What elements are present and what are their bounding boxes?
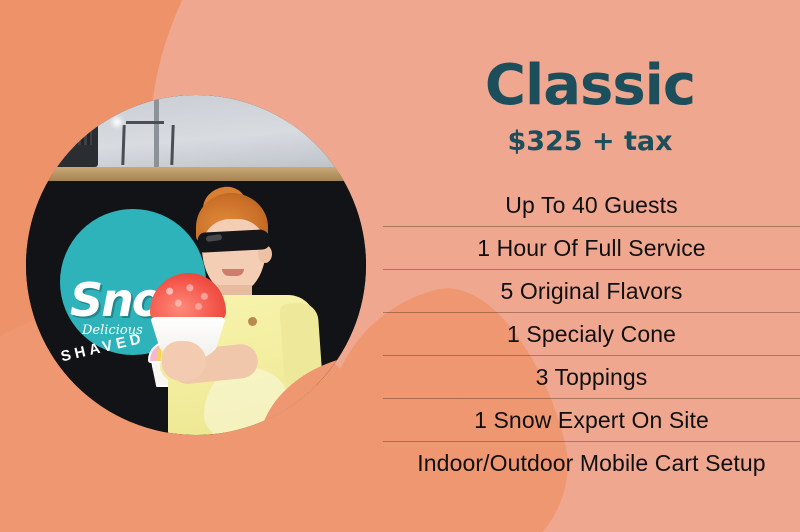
list-item: 1 Snow Expert On Site	[383, 398, 800, 441]
photo-equipment-grill	[48, 111, 92, 145]
plan-price: $325 + tax	[380, 128, 800, 155]
photo-shirt-button	[248, 317, 257, 326]
list-item: 5 Original Flavors	[383, 269, 800, 312]
pricing-card: Sno'a Delicious SHAVED Classic $325 + ta…	[0, 0, 800, 532]
feature-list: Up To 40 Guests 1 Hour Of Full Service 5…	[383, 184, 800, 484]
list-item: 1 Hour Of Full Service	[383, 226, 800, 269]
page-title: Classic	[380, 58, 800, 114]
list-item: 1 Specialy Cone	[383, 312, 800, 355]
photo-child-hand	[162, 341, 206, 381]
photo-tent-frame-bar	[126, 121, 164, 124]
list-item: 3 Toppings	[383, 355, 800, 398]
plan-details-panel: Classic $325 + tax Up To 40 Guests 1 Hou…	[380, 0, 800, 532]
photo-sun-glare	[112, 117, 122, 127]
list-item: Indoor/Outdoor Mobile Cart Setup	[383, 441, 800, 484]
shaved-ice-texture	[158, 281, 216, 315]
list-item: Up To 40 Guests	[383, 184, 800, 226]
photo-child-mouth	[222, 269, 244, 276]
customer-photo: Sno'a Delicious SHAVED	[26, 95, 366, 435]
photo-tent-frame	[121, 125, 174, 165]
